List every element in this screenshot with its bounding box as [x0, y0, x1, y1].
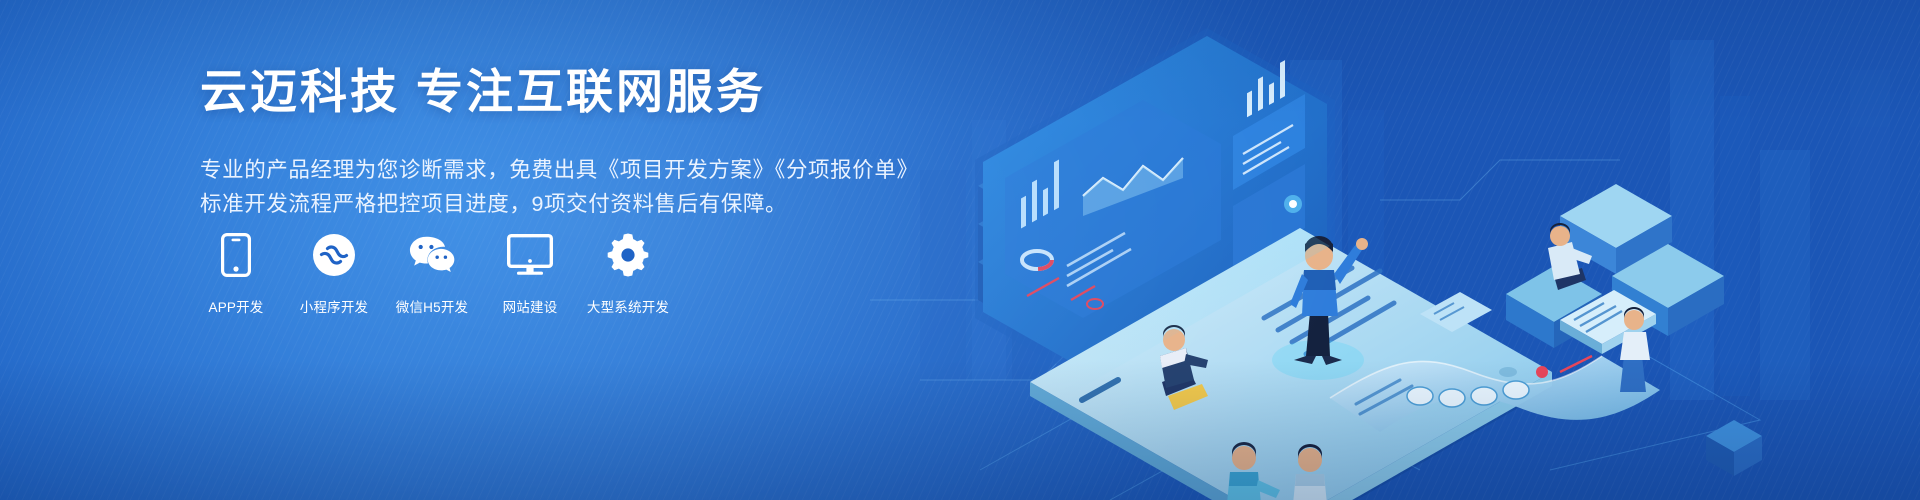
service-item-website[interactable]: 网站建设 [494, 232, 566, 316]
service-label-website: 网站建设 [503, 296, 558, 316]
service-label-mini-program: 小程序开发 [300, 296, 369, 316]
hero-subtitle: 专业的产品经理为您诊断需求，免费出具《项目开发方案》《分项报价单》 标准开发流程… [200, 153, 960, 223]
subtitle-line-2: 标准开发流程严格把控项目进度，9项交付资料售后有保障。 [200, 187, 960, 222]
page-title: 云迈科技 专注互联网服务 [200, 66, 960, 119]
service-item-app[interactable]: APP开发 [200, 232, 272, 316]
subtitle-line-1: 专业的产品经理为您诊断需求，免费出具《项目开发方案》《分项报价单》 [200, 153, 960, 188]
service-label-app: APP开发 [208, 296, 263, 316]
wechat-icon [409, 232, 455, 278]
service-item-large-system[interactable]: 大型系统开发 [592, 232, 664, 316]
gear-icon [605, 232, 651, 278]
service-label-large-system: 大型系统开发 [587, 296, 669, 316]
mini-program-icon [311, 232, 357, 278]
floating-cube [1706, 420, 1762, 476]
mobile-phone-icon [213, 232, 259, 278]
service-icon-row: APP开发 小程序开发 [200, 232, 664, 316]
hero-banner: 云迈科技 专注互联网服务 专业的产品经理为您诊断需求，免费出具《项目开发方案》《… [0, 0, 1920, 500]
hero-copy-block: 云迈科技 专注互联网服务 专业的产品经理为您诊断需求，免费出具《项目开发方案》《… [200, 66, 960, 222]
service-item-wechat-h5[interactable]: 微信H5开发 [396, 232, 468, 316]
monitor-icon [507, 232, 553, 278]
service-label-wechat-h5: 微信H5开发 [396, 296, 468, 316]
isometric-tech-illustration [860, 0, 1920, 500]
service-item-mini-program[interactable]: 小程序开发 [298, 232, 370, 316]
